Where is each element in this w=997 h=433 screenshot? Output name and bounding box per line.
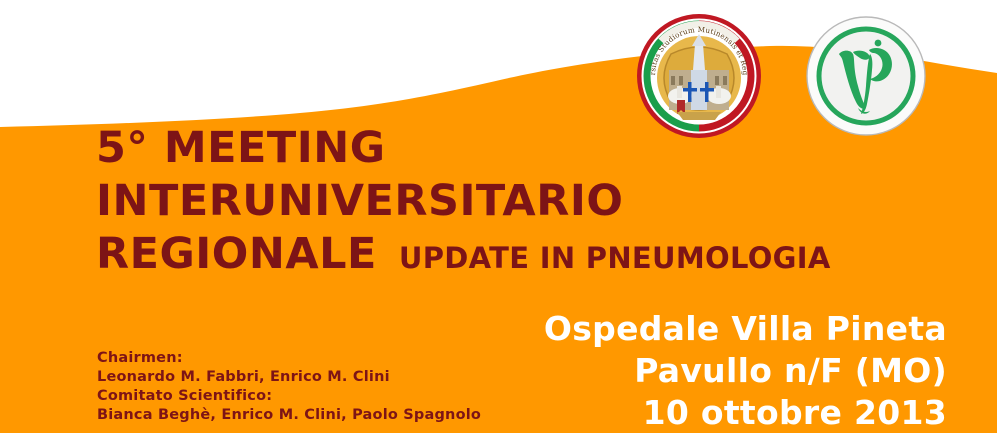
venue-city: Pavullo n/F (MO)	[427, 350, 947, 392]
title-line-1: 5° MEETING	[96, 122, 976, 175]
title-line-3-row: REGIONALE UPDATE IN PNEUMOLOGIA	[96, 228, 976, 285]
venue-block: Ospedale Villa Pineta Pavullo n/F (MO) 1…	[427, 308, 947, 433]
poster-title-block: 5° MEETING INTERUNIVERSITARIO REGIONALE …	[96, 122, 976, 285]
university-of-modena-reggio-emilia-seal-icon: Universitas Studiorum Mutinensis et Regi…	[637, 14, 761, 138]
villa-pineta-vp-monogram-icon	[806, 16, 926, 136]
conference-poster: Universitas Studiorum Mutinensis et Regi…	[0, 0, 997, 433]
venue-name: Ospedale Villa Pineta	[427, 308, 947, 350]
event-date: 10 ottobre 2013	[427, 392, 947, 433]
title-line-2: INTERUNIVERSITARIO	[96, 175, 976, 228]
title-line-3: REGIONALE	[96, 228, 377, 281]
poster-subtitle: UPDATE IN PNEUMOLOGIA	[399, 232, 831, 285]
